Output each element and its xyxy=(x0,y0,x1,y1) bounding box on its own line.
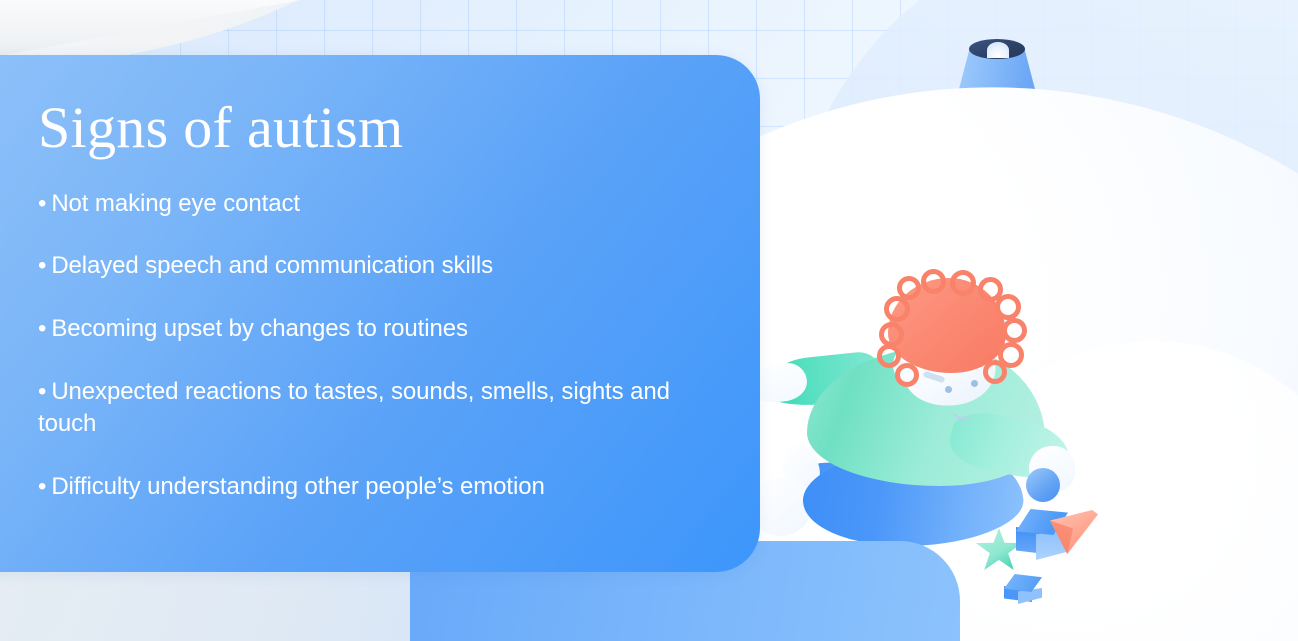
list-item: •Delayed speech and communication skills xyxy=(38,250,720,283)
hair-curl-icon xyxy=(950,270,976,296)
hair-curl-icon xyxy=(895,363,919,387)
list-item: •Becoming upset by changes to routines xyxy=(38,313,720,346)
bullet-marker: • xyxy=(38,252,46,279)
hair-curl-icon xyxy=(879,322,904,347)
hair-curl-icon xyxy=(921,269,946,294)
signs-list: •Not making eye contact •Delayed speech … xyxy=(38,188,720,504)
bullet-marker: • xyxy=(38,378,46,405)
child-eye-left xyxy=(945,386,952,393)
list-item-label: Delayed speech and communication skills xyxy=(51,252,493,279)
card-content: Signs of autism •Not making eye contact … xyxy=(38,55,720,533)
slide-canvas: Signs of autism •Not making eye contact … xyxy=(0,0,1298,641)
child-ball-toy xyxy=(1026,468,1060,502)
hair-curl-icon xyxy=(884,296,910,322)
page-title: Signs of autism xyxy=(38,55,720,160)
child-eye-right xyxy=(971,380,978,387)
list-item: •Unexpected reactions to tastes, sounds,… xyxy=(38,376,720,441)
content-card: Signs of autism •Not making eye contact … xyxy=(0,55,760,572)
list-item-label: Unexpected reactions to tastes, sounds, … xyxy=(38,378,670,438)
list-item: •Difficulty understanding other people’s… xyxy=(38,471,720,504)
bullet-marker: • xyxy=(38,315,46,342)
list-item: •Not making eye contact xyxy=(38,188,720,221)
bullet-marker: • xyxy=(38,473,46,500)
hair-curl-icon xyxy=(995,294,1021,320)
list-item-label: Becoming upset by changes to routines xyxy=(51,315,468,342)
hair-curl-icon xyxy=(1002,318,1027,343)
bullet-marker: • xyxy=(38,190,46,217)
list-item-label: Not making eye contact xyxy=(51,190,300,217)
lamp-bulb xyxy=(987,42,1009,58)
hair-curl-icon xyxy=(983,360,1007,384)
list-item-label: Difficulty understanding other people’s … xyxy=(51,473,544,500)
hair-curl-icon xyxy=(897,276,921,300)
hair-curl-icon xyxy=(877,344,901,368)
